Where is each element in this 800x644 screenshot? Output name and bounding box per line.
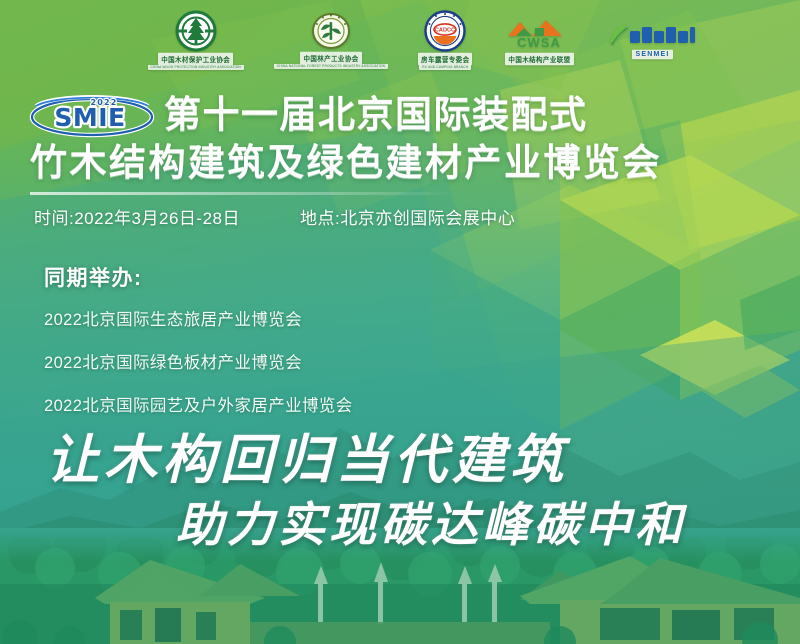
logo-label-cn: 中国林产工业协会 xyxy=(300,52,361,65)
logo-label-en: CHINA NATIONAL FOREST PRODUCTS INDUSTRY … xyxy=(274,64,388,69)
logo-cadcc-rv-camping-committee: CADCC 房车露营专委会 RV AND CAMPING BRANCH xyxy=(418,10,472,70)
logo-label-cn: 房车露营专委会 xyxy=(418,53,472,66)
header-divider xyxy=(30,192,460,195)
house-roof-icon: CWSA xyxy=(502,16,576,52)
logo-cwsa: CWSA 中国木结构产业联盟 xyxy=(502,16,576,65)
headline-block: SMIE SMIE 2022 2022 第十一届北京国际装配式 竹木结构建筑及绿… xyxy=(28,92,788,185)
pine-tree-shield-icon xyxy=(175,10,217,52)
concurrent-events-title: 同期举办: xyxy=(44,262,353,292)
logo-china-wood-protection-industry-association: 中国木材保护工业协会 CHINA WOOD PROTECTION INDUSTR… xyxy=(148,10,244,70)
title-line2: 竹木结构建筑及绿色建材产业博览会 xyxy=(30,141,788,185)
event-venue: 地点:北京亦创国际会展中心 xyxy=(300,204,515,229)
logo-senmei: SENMEI SENMEI xyxy=(606,21,698,59)
svg-text:SMIE: SMIE xyxy=(54,103,125,132)
concurrent-event-item: 2022北京国际绿色板材产业博览会 xyxy=(44,349,353,373)
logo-label-en: CHINA WOOD PROTECTION INDUSTRY ASSOCIATI… xyxy=(148,65,244,70)
slogan-line1: 让木构回归当代建筑 xyxy=(46,418,568,494)
concurrent-events-block: 同期举办: 2022北京国际生态旅居产业博览会 2022北京国际绿色板材产业博览… xyxy=(44,262,353,435)
organizer-logo-strip: 中国木材保护工业协会 CHINA WOOD PROTECTION INDUSTR… xyxy=(0,0,800,80)
title-line1-row: SMIE SMIE 2022 2022 第十一届北京国际装配式 xyxy=(28,92,788,138)
leaf-senmei-icon: SENMEI xyxy=(606,21,698,49)
svg-text:CADCC: CADCC xyxy=(435,28,455,34)
concurrent-event-item: 2022北京国际生态旅居产业博览会 xyxy=(44,306,353,330)
logo-bamboo-industry-association: 中国林产工业协会 CHINA NATIONAL FOREST PRODUCTS … xyxy=(274,11,388,69)
bamboo-seal-icon xyxy=(311,11,351,51)
concurrent-event-item: 2022北京国际园艺及户外家居产业博览会 xyxy=(44,392,353,416)
logo-label-en: RV AND CAMPING BRANCH xyxy=(419,65,471,70)
svg-text:CWSA: CWSA xyxy=(518,35,562,50)
logo-label-acronym: SENMEI xyxy=(632,50,672,59)
svg-text:2022: 2022 xyxy=(90,98,117,107)
exhibition-poster: 中国木材保护工业协会 CHINA WOOD PROTECTION INDUSTR… xyxy=(0,0,800,644)
logo-label-cn: 中国木结构产业联盟 xyxy=(505,52,573,65)
slogan-line2: 助力实现碳达峰碳中和 xyxy=(176,486,686,555)
smie-brand-logo: SMIE SMIE 2022 2022 xyxy=(28,92,156,138)
logo-label-cn: 中国木材保护工业协会 xyxy=(158,53,233,66)
title-line1: 第十一届北京国际装配式 xyxy=(164,93,588,137)
cadcc-badge-icon: CADCC xyxy=(424,10,466,52)
event-date: 时间:2022年3月26日-28日 xyxy=(34,204,240,229)
event-meta-row: 时间:2022年3月26日-28日 地点:北京亦创国际会展中心 xyxy=(34,204,774,229)
